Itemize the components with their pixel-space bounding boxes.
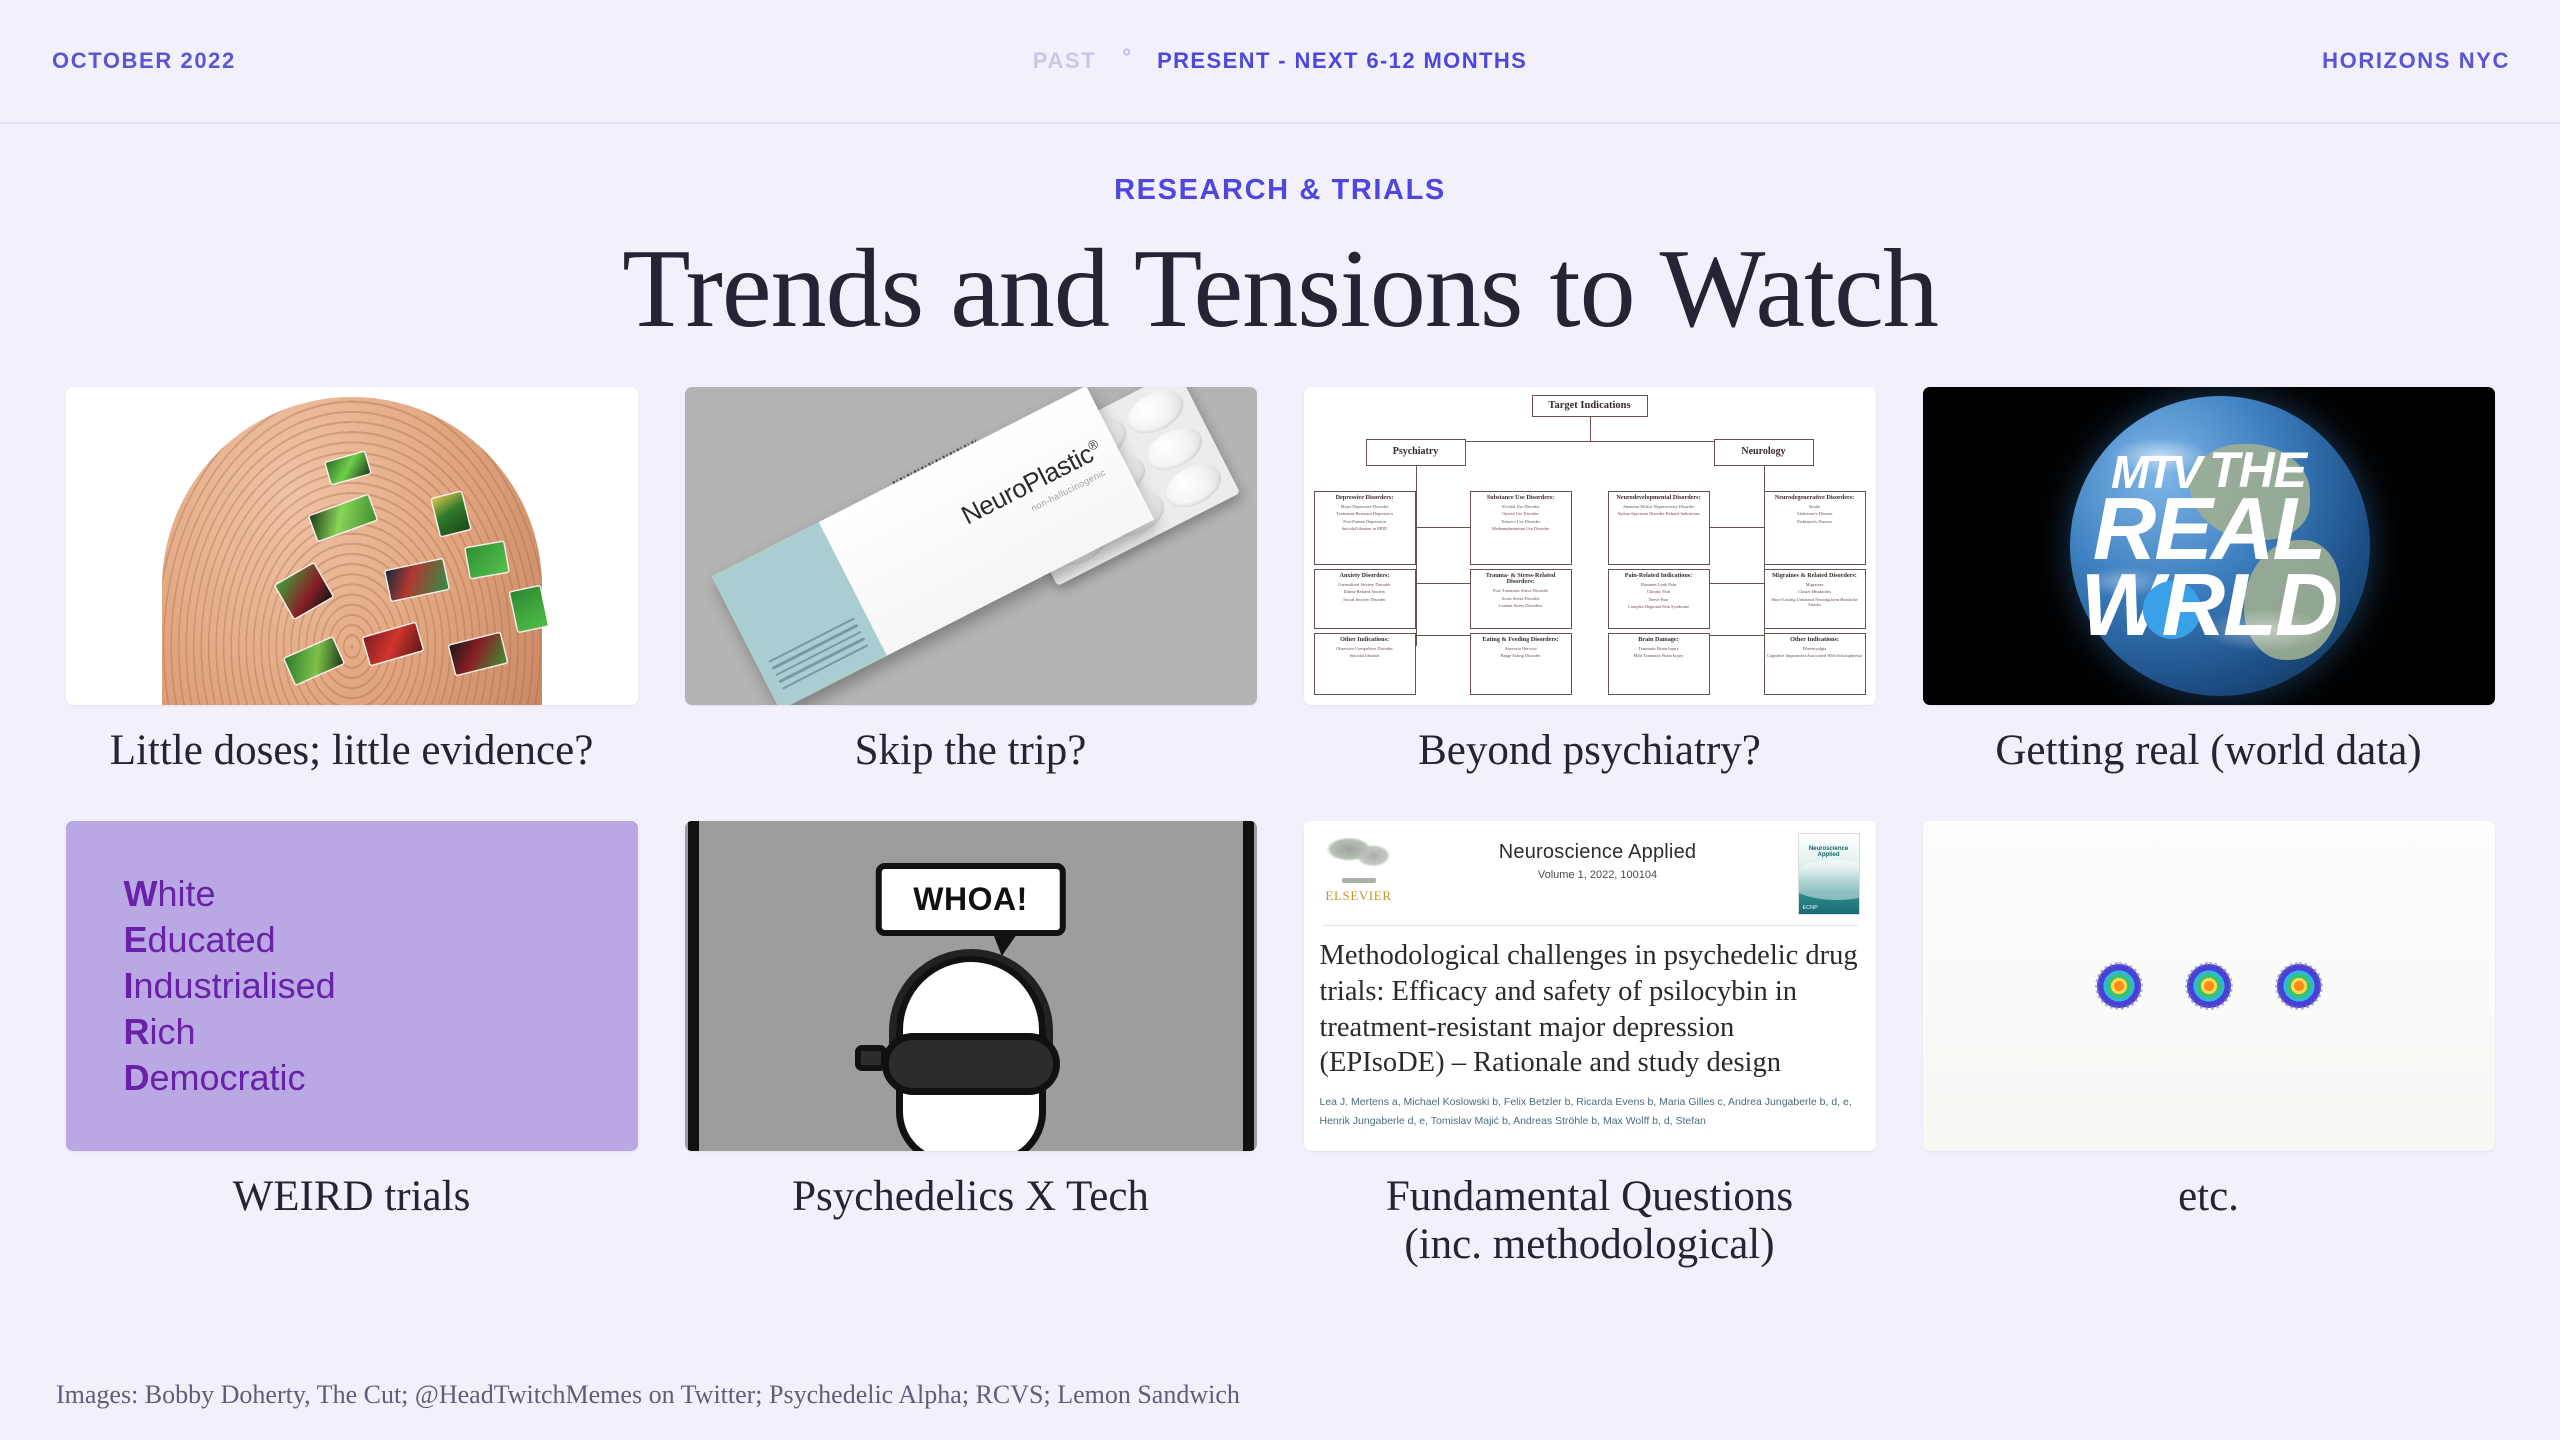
fingertip-microdots-photo[interactable]: [66, 387, 638, 705]
card-caption: Beyond psychiatry?: [1418, 727, 1761, 775]
weird-acronym-slide[interactable]: White Educated Industrialised Rich Democ…: [66, 821, 638, 1151]
diagram-leaf-node: Substance Use Disorders: Alcohol Use Dis…: [1470, 491, 1572, 565]
top-bar: OCTOBER 2022 PAST ° PRESENT - NEXT 6-12 …: [0, 0, 2560, 124]
weird-line: White: [124, 871, 336, 917]
card-caption: Psychedelics X Tech: [792, 1173, 1149, 1221]
right-letterbox-bar: [1243, 821, 1254, 1151]
diagram-connector: [1590, 416, 1591, 442]
diagram-leaf-node: Neurodegenerative Disorders: Stroke Alzh…: [1764, 491, 1866, 565]
diagram-leaf-node: Other Indications: Obsessive Compulsive …: [1314, 633, 1416, 695]
weird-line: Democratic: [124, 1055, 336, 1101]
weird-acronym-list: White Educated Industrialised Rich Democ…: [66, 871, 336, 1101]
card-caption: Getting real (world data): [1995, 727, 2421, 775]
diagram-connector: [1416, 466, 1417, 646]
microdot-chip: [465, 542, 508, 578]
timeline-nav: PAST ° PRESENT - NEXT 6-12 MONTHS: [1033, 48, 1527, 74]
card-caption: Skip the trip?: [855, 727, 1087, 775]
diagram-leaf-node: Migraines & Related Disorders: Migraines…: [1764, 569, 1866, 629]
neuroplastic-pill-box-photo[interactable]: NeuroPlastic® non-hallucinogenic: [685, 387, 1257, 705]
card-grid-row-1: Little doses; little evidence?: [60, 387, 2500, 775]
journal-cover-thumbnail: Neuroscience Applied ECNP: [1798, 833, 1860, 915]
diagram-root-node: Target Indications: [1532, 395, 1648, 417]
weird-line: Industrialised: [124, 963, 336, 1009]
journal-volume: Volume 1, 2022, 100104: [1398, 869, 1798, 881]
mtv-world-text: WRLD: [2081, 567, 2337, 643]
mandala-dot-icon: [2097, 964, 2141, 1008]
diagram-canvas: Target Indications Psychiatry Neurology …: [1304, 387, 1876, 705]
diagram-leaf-node: Depressive Disorders: Major Depressive D…: [1314, 491, 1416, 565]
mandala-dots-image[interactable]: [1923, 821, 2495, 1151]
weird-line: Educated: [124, 917, 336, 963]
cover-wave-graphic: [1798, 860, 1860, 900]
diagram-leaf-node: Neurodevelopmental Disorders: Attention …: [1608, 491, 1710, 565]
card-caption-line-2: (inc. methodological): [1386, 1221, 1793, 1269]
card-caption: Fundamental Questions (inc. methodologic…: [1386, 1173, 1793, 1269]
mtv-logo: MTV THE REAL WRLD: [1923, 387, 2495, 705]
cover-publisher-badge: ECNP: [1803, 905, 1818, 911]
diagram-leaf-node: Eating & Feeding Disorders: Anorexia Ner…: [1470, 633, 1572, 695]
vr-goggles-icon: [882, 1033, 1060, 1095]
diagram-leaf-node: Trauma- & Stress-Related Disorders: Post…: [1470, 569, 1572, 629]
weird-line: Rich: [124, 1009, 336, 1055]
diagram-branch-node: Psychiatry: [1366, 439, 1466, 466]
timeline-present-label[interactable]: PRESENT - NEXT 6-12 MONTHS: [1157, 48, 1527, 74]
card-fundamental-questions[interactable]: ELSEVIER Neuroscience Applied Volume 1, …: [1298, 821, 1881, 1269]
paper-page: ELSEVIER Neuroscience Applied Volume 1, …: [1304, 821, 1876, 1151]
diagram-branch-node: Neurology: [1714, 439, 1814, 466]
target-indications-diagram[interactable]: Target Indications Psychiatry Neurology …: [1304, 387, 1876, 705]
elsevier-wordmark: ELSEVIER: [1320, 888, 1398, 904]
card-caption-line-1: Fundamental Questions: [1386, 1173, 1793, 1221]
page-title: Trends and Tensions to Watch: [0, 231, 2560, 349]
card-caption: Little doses; little evidence?: [110, 727, 594, 775]
timeline-separator-icon: °: [1122, 46, 1131, 68]
timeline-past-label[interactable]: PAST: [1033, 48, 1096, 74]
card-etc[interactable]: etc.: [1917, 821, 2500, 1269]
card-weird-trials[interactable]: White Educated Industrialised Rich Democ…: [60, 821, 643, 1269]
vr-headset-strap: [889, 949, 1053, 1045]
card-caption: WEIRD trials: [233, 1173, 471, 1221]
vr-headset-whoa-meme[interactable]: WHOA!: [685, 821, 1257, 1151]
article-authors: Lea J. Mertens a, Michael Koslowski b, F…: [1320, 1093, 1860, 1130]
pill-box-scene: NeuroPlastic® non-hallucinogenic: [685, 387, 1257, 705]
mandala-dot-icon: [2277, 964, 2321, 1008]
medicine-box: NeuroPlastic® non-hallucinogenic: [711, 387, 1153, 705]
journal-name: Neuroscience Applied: [1398, 841, 1798, 864]
diagram-leaf-node: Brain Damage: Traumatic Brain Injury Mil…: [1608, 633, 1710, 695]
elsevier-tree-icon: [1320, 833, 1396, 887]
section-eyebrow: RESEARCH & TRIALS: [0, 174, 2560, 207]
card-getting-real[interactable]: MTV THE REAL WRLD Getting real (world da…: [1917, 387, 2500, 775]
diagram-leaf-node: Pain-Related Indications: Phantom Limb P…: [1608, 569, 1710, 629]
image-credits: Images: Bobby Doherty, The Cut; @HeadTwi…: [56, 1380, 1240, 1410]
card-caption: etc.: [2178, 1173, 2239, 1221]
journal-article-screenshot[interactable]: ELSEVIER Neuroscience Applied Volume 1, …: [1304, 821, 1876, 1151]
mandala-dot-icon: [2187, 964, 2231, 1008]
divider: [1322, 925, 1858, 926]
card-skip-the-trip[interactable]: NeuroPlastic® non-hallucinogenic Skip th…: [679, 387, 1262, 775]
issue-date-label: OCTOBER 2022: [52, 48, 236, 74]
card-beyond-psychiatry[interactable]: Target Indications Psychiatry Neurology …: [1298, 387, 1881, 775]
paper-masthead: ELSEVIER Neuroscience Applied Volume 1, …: [1320, 833, 1860, 915]
diagram-leaf-node: Anxiety Disorders: Generalised Anxiety D…: [1314, 569, 1416, 629]
mtv-the-real-world-title-card[interactable]: MTV THE REAL WRLD: [1923, 387, 2495, 705]
elsevier-logo: ELSEVIER: [1320, 833, 1398, 904]
brand-label: HORIZONS NYC: [2322, 48, 2510, 74]
journal-cover-title: Neuroscience Applied: [1799, 846, 1859, 859]
card-little-doses[interactable]: Little doses; little evidence?: [60, 387, 643, 775]
journal-title-block: Neuroscience Applied Volume 1, 2022, 100…: [1398, 833, 1798, 881]
mandala-row: [1923, 821, 2495, 1151]
left-letterbox-bar: [688, 821, 699, 1151]
diagram-leaf-node: Other Indications: Fibromyalgia Cognitiv…: [1764, 633, 1866, 695]
card-psychedelics-x-tech[interactable]: WHOA! Psychedelics X Tech: [679, 821, 1262, 1269]
article-title: Methodological challenges in psychedelic…: [1320, 938, 1860, 1082]
card-grid-row-2: White Educated Industrialised Rich Democ…: [60, 821, 2500, 1269]
vr-goggles-side-nub: [855, 1045, 887, 1071]
speech-bubble: WHOA!: [875, 863, 1065, 936]
